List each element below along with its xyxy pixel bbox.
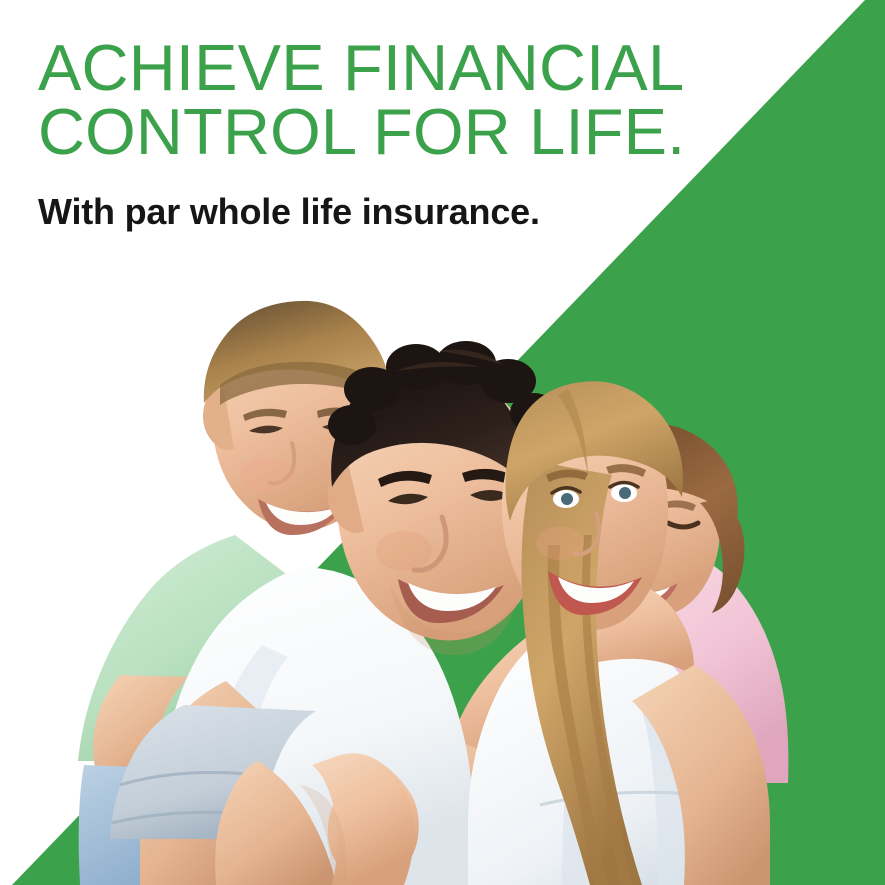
page-subtitle: With par whole life insurance. [38, 192, 540, 232]
boy-cheek [240, 457, 292, 493]
mother-cheek [536, 526, 584, 560]
father-cheek [376, 531, 432, 571]
page-title: ACHIEVE FINANCIAL CONTROL FOR LIFE. [38, 36, 685, 164]
promo-banner: ACHIEVE FINANCIAL CONTROL FOR LIFE. With… [0, 0, 885, 885]
mother-pupil-right [619, 487, 631, 499]
family-photo: Smiling family of four outdoors, two chi… [0, 285, 885, 885]
mother-pupil-left [561, 493, 573, 505]
